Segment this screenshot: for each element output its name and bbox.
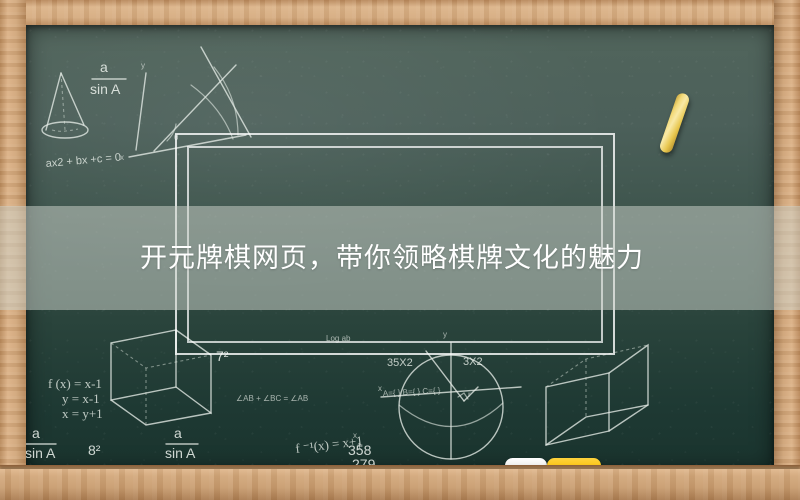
svg-text:x = y+1: x = y+1 — [62, 406, 103, 421]
fraction-a-sin-a-left: a sin A — [26, 425, 56, 461]
svg-text:a: a — [174, 425, 182, 441]
cone-figure — [42, 73, 88, 138]
svg-text:x: x — [120, 153, 124, 162]
banner-canvas: .ck { fill:none; stroke:#e6ece7; stroke-… — [0, 0, 800, 500]
chalk-tray-ledge — [0, 469, 800, 500]
svg-text:r: r — [468, 390, 471, 399]
multiply-35x2: 35X2 — [387, 357, 413, 369]
svg-text:a: a — [32, 425, 40, 441]
fraction-a-sin-a: a sin A — [90, 59, 126, 97]
svg-text:x: x — [353, 431, 357, 440]
multiply-3x2: 3X2 — [463, 356, 483, 368]
svg-text:y = x-1: y = x-1 — [62, 391, 100, 406]
svg-text:358: 358 — [348, 442, 372, 458]
frame-top-rail — [0, 0, 800, 25]
svg-text:1: 1 — [357, 442, 362, 451]
svg-text:x: x — [378, 384, 382, 393]
inverse-function: f ⁻¹(x) = x+1 — [295, 433, 364, 456]
svg-text:a: a — [100, 59, 108, 75]
angle-relation: ∠AB + ∠BC = ∠AB — [236, 394, 308, 403]
headline-band: 开元牌棋网页，带你领略棋牌文化的魅力 — [0, 206, 800, 310]
svg-text:f (x) = x-1: f (x) = x-1 — [48, 376, 102, 391]
fx-equations: f (x) = x-1 y = x-1 x = y+1 — [48, 376, 103, 421]
svg-text:y: y — [141, 61, 145, 70]
svg-text:sin A: sin A — [165, 445, 196, 461]
quadratic-equation: ax2 + bx +c = 0 — [45, 151, 121, 170]
set-notation: A={ } B={ } C={ } — [383, 386, 441, 398]
fraction-a-sin-a-mid: a sin A — [165, 425, 198, 461]
page-title: 开元牌棋网页，带你领略棋牌文化的魅力 — [140, 245, 644, 272]
svg-text:sin A: sin A — [26, 445, 56, 461]
svg-text:sin A: sin A — [90, 81, 121, 97]
cube-diagram-right — [546, 345, 648, 445]
exponent-8-squared: 8² — [88, 442, 101, 458]
